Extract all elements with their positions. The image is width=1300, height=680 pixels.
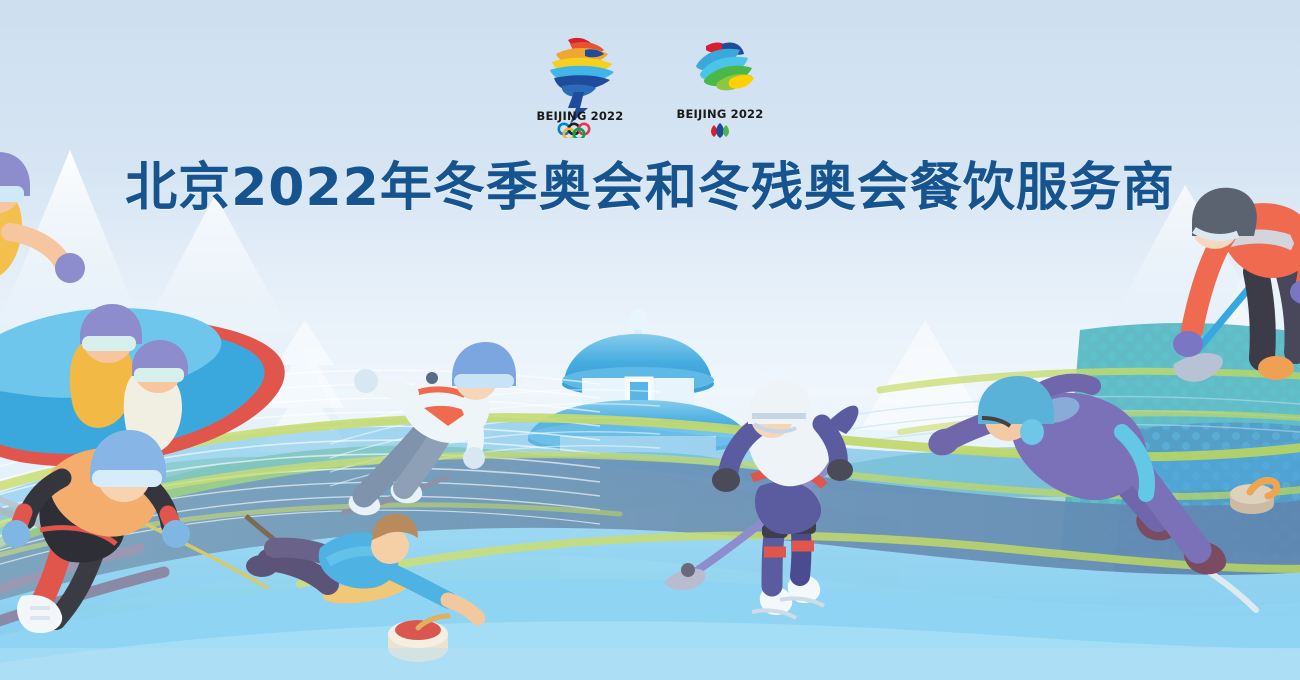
olympic-rings-icon [559, 124, 589, 138]
paralympic-feiyue-symbol [696, 42, 754, 90]
agitos-icon [711, 123, 729, 138]
emblems-row: BEIJING 2022 [0, 30, 1300, 138]
beijing-2022-banner: BEIJING 2022 [0, 0, 1300, 680]
beijing-2022-olympic-emblem: BEIJING 2022 [530, 30, 630, 138]
beijing-2022-paralympic-emblem: BEIJING 2022 [670, 30, 770, 138]
olympic-wordmark: BEIJING 2022 [537, 109, 624, 123]
page-title: 北京2022年冬季奥会和冬残奥会餐饮服务商 [0, 145, 1300, 220]
paralympic-wordmark: BEIJING 2022 [677, 107, 764, 121]
